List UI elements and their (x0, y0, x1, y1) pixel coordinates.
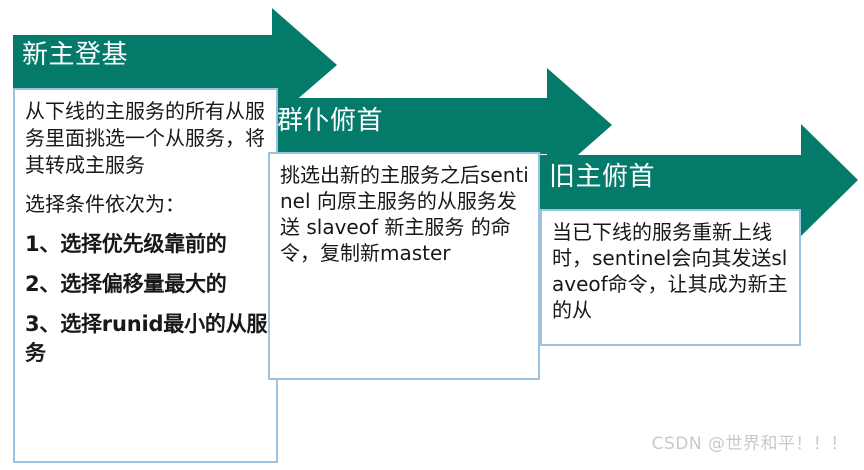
step-3-paragraph-1: 当已下线的服务重新上线时，sentinel会向其发送slaveof命令，让其成为… (552, 219, 791, 323)
step-1-list-item-2: 2、选择偏移量最大的 (25, 270, 268, 298)
step-1-list-item-1: 1、选择优先级靠前的 (25, 230, 268, 258)
step-title-3: 旧主俯首 (549, 164, 655, 190)
step-2-paragraph-1: 挑选出新的主服务之后sentinel 向原主服务的从服务发送 slaveof 新… (280, 162, 530, 266)
step-title-2: 群仆俯首 (277, 108, 383, 134)
step-content-box-2: 挑选出新的主服务之后sentinel 向原主服务的从服务发送 slaveof 新… (268, 152, 540, 380)
step-1-paragraph-1: 从下线的主服务的所有从服务里面挑选一个从服务，将其转成主服务 (25, 98, 268, 178)
step-1-list-item-3: 3、选择runid最小的从服务 (25, 310, 268, 366)
step-content-box-1: 从下线的主服务的所有从服务里面挑选一个从服务，将其转成主服务 选择条件依次为： … (13, 88, 278, 463)
step-content-inner-1: 从下线的主服务的所有从服务里面挑选一个从服务，将其转成主服务 选择条件依次为： … (15, 90, 276, 367)
step-content-inner-3: 当已下线的服务重新上线时，sentinel会向其发送slaveof命令，让其成为… (542, 211, 799, 323)
step-content-inner-2: 挑选出新的主服务之后sentinel 向原主服务的从服务发送 slaveof 新… (270, 154, 538, 266)
diagram-canvas: 新主登基 群仆俯首 旧主俯首 从下线的主服务的所有从服务里面挑选一个从服务，将其… (0, 0, 864, 470)
csdn-watermark: CSDN @世界和平！！！ (652, 429, 848, 454)
step-content-box-3: 当已下线的服务重新上线时，sentinel会向其发送slaveof命令，让其成为… (540, 209, 801, 346)
step-title-1: 新主登基 (22, 42, 128, 68)
step-1-paragraph-2: 选择条件依次为： (25, 191, 268, 218)
